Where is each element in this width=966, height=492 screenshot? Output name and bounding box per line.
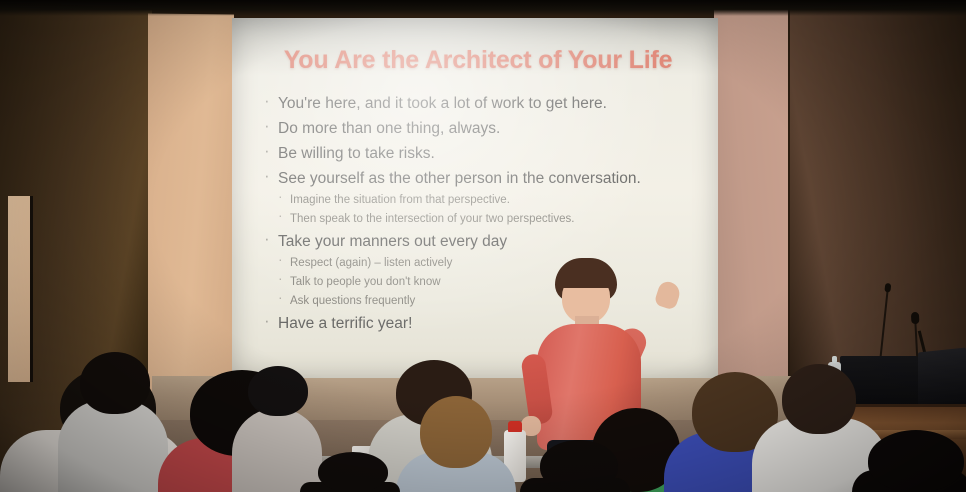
- presenter-raised-hand: [654, 279, 683, 311]
- audience-person-9-head: [782, 364, 856, 434]
- lecture-hall-photo: You Are the Architect of Your Life You'r…: [0, 0, 966, 492]
- audience-person-4-head: [248, 366, 308, 416]
- slide-sub-bullet: Then speak to the intersection of your t…: [278, 210, 702, 229]
- slide-sub-bullet: Imagine the situation from that perspect…: [278, 191, 702, 210]
- wall-panel-right: [714, 8, 788, 429]
- slide-bullet: Be willing to take risks.: [264, 141, 702, 166]
- slide-bullet-list-2: Take your manners out every day: [254, 229, 702, 254]
- slide-bullet: Take your manners out every day: [264, 229, 702, 254]
- presenter-hair-fringe: [557, 268, 615, 288]
- audience-person-11-head: [540, 440, 618, 492]
- audience-person-10-head: [868, 430, 964, 492]
- wall-panel-left: [148, 14, 234, 427]
- slide-sub-bullet-list: Imagine the situation from that perspect…: [254, 191, 702, 229]
- slide-bullet-list: You're here, and it took a lot of work t…: [254, 91, 702, 191]
- ceiling-shadow: [0, 0, 966, 16]
- audience-person-6-head: [420, 396, 492, 468]
- second-laptop: [918, 347, 966, 410]
- audience-person-2-head: [80, 352, 150, 414]
- slide-title: You Are the Architect of Your Life: [254, 46, 702, 75]
- audience-person-12-head: [318, 452, 388, 492]
- audience-person-4-body: [232, 408, 322, 492]
- slide-bullet: You're here, and it took a lot of work t…: [264, 91, 702, 116]
- whiteboard-edge: [8, 196, 33, 382]
- slide-bullet: Do more than one thing, always.: [264, 116, 702, 141]
- slide-bullet: See yourself as the other person in the …: [264, 166, 702, 191]
